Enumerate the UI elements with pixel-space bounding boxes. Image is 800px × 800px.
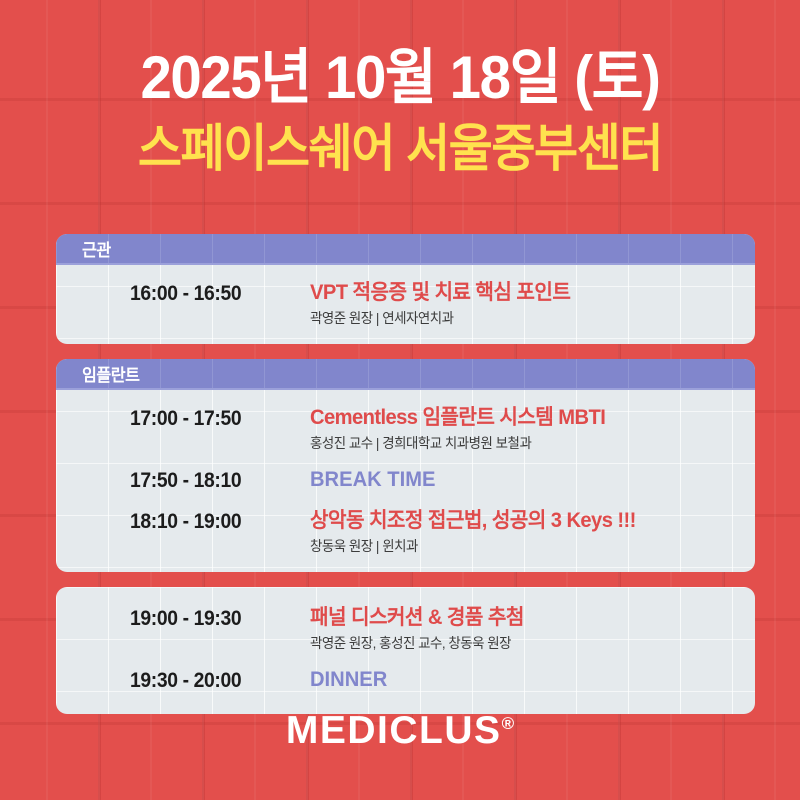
brand-name: MEDICLUS — [286, 709, 502, 752]
session-details: Cementless 임플란트 시스템 MBTI홍성진 교수 | 경희대학교 치… — [310, 404, 755, 453]
session-time: 17:50 - 18:10 — [130, 466, 296, 494]
schedule-row: 19:00 - 19:30패널 디스커션 & 경품 추첨곽영준 원장, 홍성진 … — [56, 604, 755, 653]
session-speaker: 곽영준 원장 | 연세자연치과 — [310, 308, 737, 328]
session-title: 상악동 치조정 접근법, 성공의 3 Keys !!! — [310, 507, 737, 534]
session-break-title: BREAK TIME — [310, 466, 737, 493]
schedule-row: 17:00 - 17:50Cementless 임플란트 시스템 MBTI홍성진… — [56, 404, 755, 453]
poster-footer: MEDICLUS® — [0, 702, 800, 753]
event-venue-heading: 스페이스쉐어 서울중부센터 — [24, 118, 776, 180]
session-time: 19:30 - 20:00 — [130, 666, 296, 694]
card-category-band: 근관 — [56, 234, 755, 265]
schedule-card: 19:00 - 19:30패널 디스커션 & 경품 추첨곽영준 원장, 홍성진 … — [56, 587, 755, 714]
session-speaker: 홍성진 교수 | 경희대학교 치과병원 보철과 — [310, 433, 737, 453]
session-details: DINNER — [310, 666, 755, 693]
session-time: 16:00 - 16:50 — [130, 279, 296, 307]
session-speaker: 창동욱 원장 | 윈치과 — [310, 536, 737, 556]
session-speaker: 곽영준 원장, 홍성진 교수, 창동욱 원장 — [310, 633, 737, 653]
card-category-label: 근관 — [82, 236, 111, 261]
session-details: BREAK TIME — [310, 466, 755, 493]
card-body: 16:00 - 16:50VPT 적응증 및 치료 핵심 포인트곽영준 원장 |… — [56, 265, 755, 344]
schedule-row: 17:50 - 18:10BREAK TIME — [56, 466, 755, 494]
event-poster: 2025년 10월 18일 (토) 스페이스쉐어 서울중부센터 근관16:00 … — [0, 0, 800, 800]
session-time: 19:00 - 19:30 — [130, 604, 296, 632]
schedule-row: 16:00 - 16:50VPT 적응증 및 치료 핵심 포인트곽영준 원장 |… — [56, 279, 755, 328]
session-title: VPT 적응증 및 치료 핵심 포인트 — [310, 279, 737, 306]
session-details: 상악동 치조정 접근법, 성공의 3 Keys !!!창동욱 원장 | 윈치과 — [310, 507, 755, 556]
card-category-band: 임플란트 — [56, 359, 755, 390]
schedule-card: 임플란트17:00 - 17:50Cementless 임플란트 시스템 MBT… — [56, 359, 755, 572]
session-time: 17:00 - 17:50 — [130, 404, 296, 432]
schedule-card: 근관16:00 - 16:50VPT 적응증 및 치료 핵심 포인트곽영준 원장… — [56, 234, 755, 344]
mediclus-logo: MEDICLUS® — [286, 702, 514, 753]
session-time: 18:10 - 19:00 — [130, 507, 296, 535]
schedule-card-list: 근관16:00 - 16:50VPT 적응증 및 치료 핵심 포인트곽영준 원장… — [56, 234, 755, 714]
event-date-heading: 2025년 10월 18일 (토) — [24, 44, 776, 112]
schedule-row: 19:30 - 20:00DINNER — [56, 666, 755, 694]
poster-header: 2025년 10월 18일 (토) 스페이스쉐어 서울중부센터 — [0, 44, 800, 180]
session-title: 패널 디스커션 & 경품 추첨 — [310, 604, 737, 631]
card-body: 17:00 - 17:50Cementless 임플란트 시스템 MBTI홍성진… — [56, 390, 755, 572]
card-category-label: 임플란트 — [82, 361, 140, 386]
session-title: Cementless 임플란트 시스템 MBTI — [310, 404, 737, 431]
session-details: VPT 적응증 및 치료 핵심 포인트곽영준 원장 | 연세자연치과 — [310, 279, 755, 328]
session-break-title: DINNER — [310, 666, 737, 693]
card-body: 19:00 - 19:30패널 디스커션 & 경품 추첨곽영준 원장, 홍성진 … — [56, 587, 755, 714]
schedule-row: 18:10 - 19:00상악동 치조정 접근법, 성공의 3 Keys !!!… — [56, 507, 755, 556]
session-details: 패널 디스커션 & 경품 추첨곽영준 원장, 홍성진 교수, 창동욱 원장 — [310, 604, 755, 653]
registered-trademark-icon: ® — [502, 714, 515, 733]
